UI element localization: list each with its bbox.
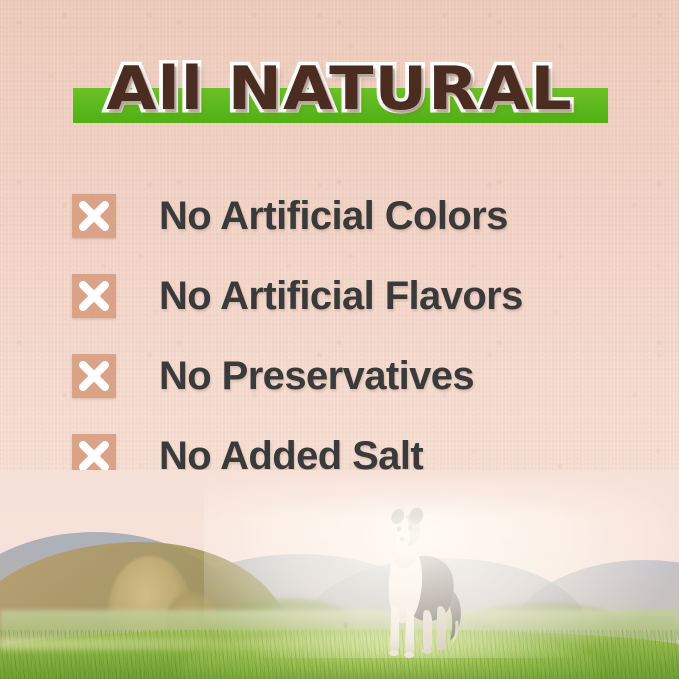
border-collie-dog [364,494,476,662]
dirt-trail [0,638,350,650]
x-mark-icon [72,274,116,318]
page-title: All NATURAL [0,46,679,132]
feature-label: No Artificial Flavors [159,274,523,318]
x-mark-icon [72,194,116,238]
list-item: No Preservatives [72,336,652,416]
feature-list: No Artificial Colors No Artificial Flavo… [72,176,652,496]
headline-area: All NATURAL [0,46,679,142]
list-item: No Artificial Flavors [72,256,652,336]
landscape-photo [0,470,679,679]
x-mark-icon [72,354,116,398]
feature-label: No Preservatives [159,354,474,398]
all-natural-product-poster: All NATURAL No Artificial Colors [0,0,679,679]
list-item: No Artificial Colors [72,176,652,256]
feature-label: No Artificial Colors [159,194,508,238]
